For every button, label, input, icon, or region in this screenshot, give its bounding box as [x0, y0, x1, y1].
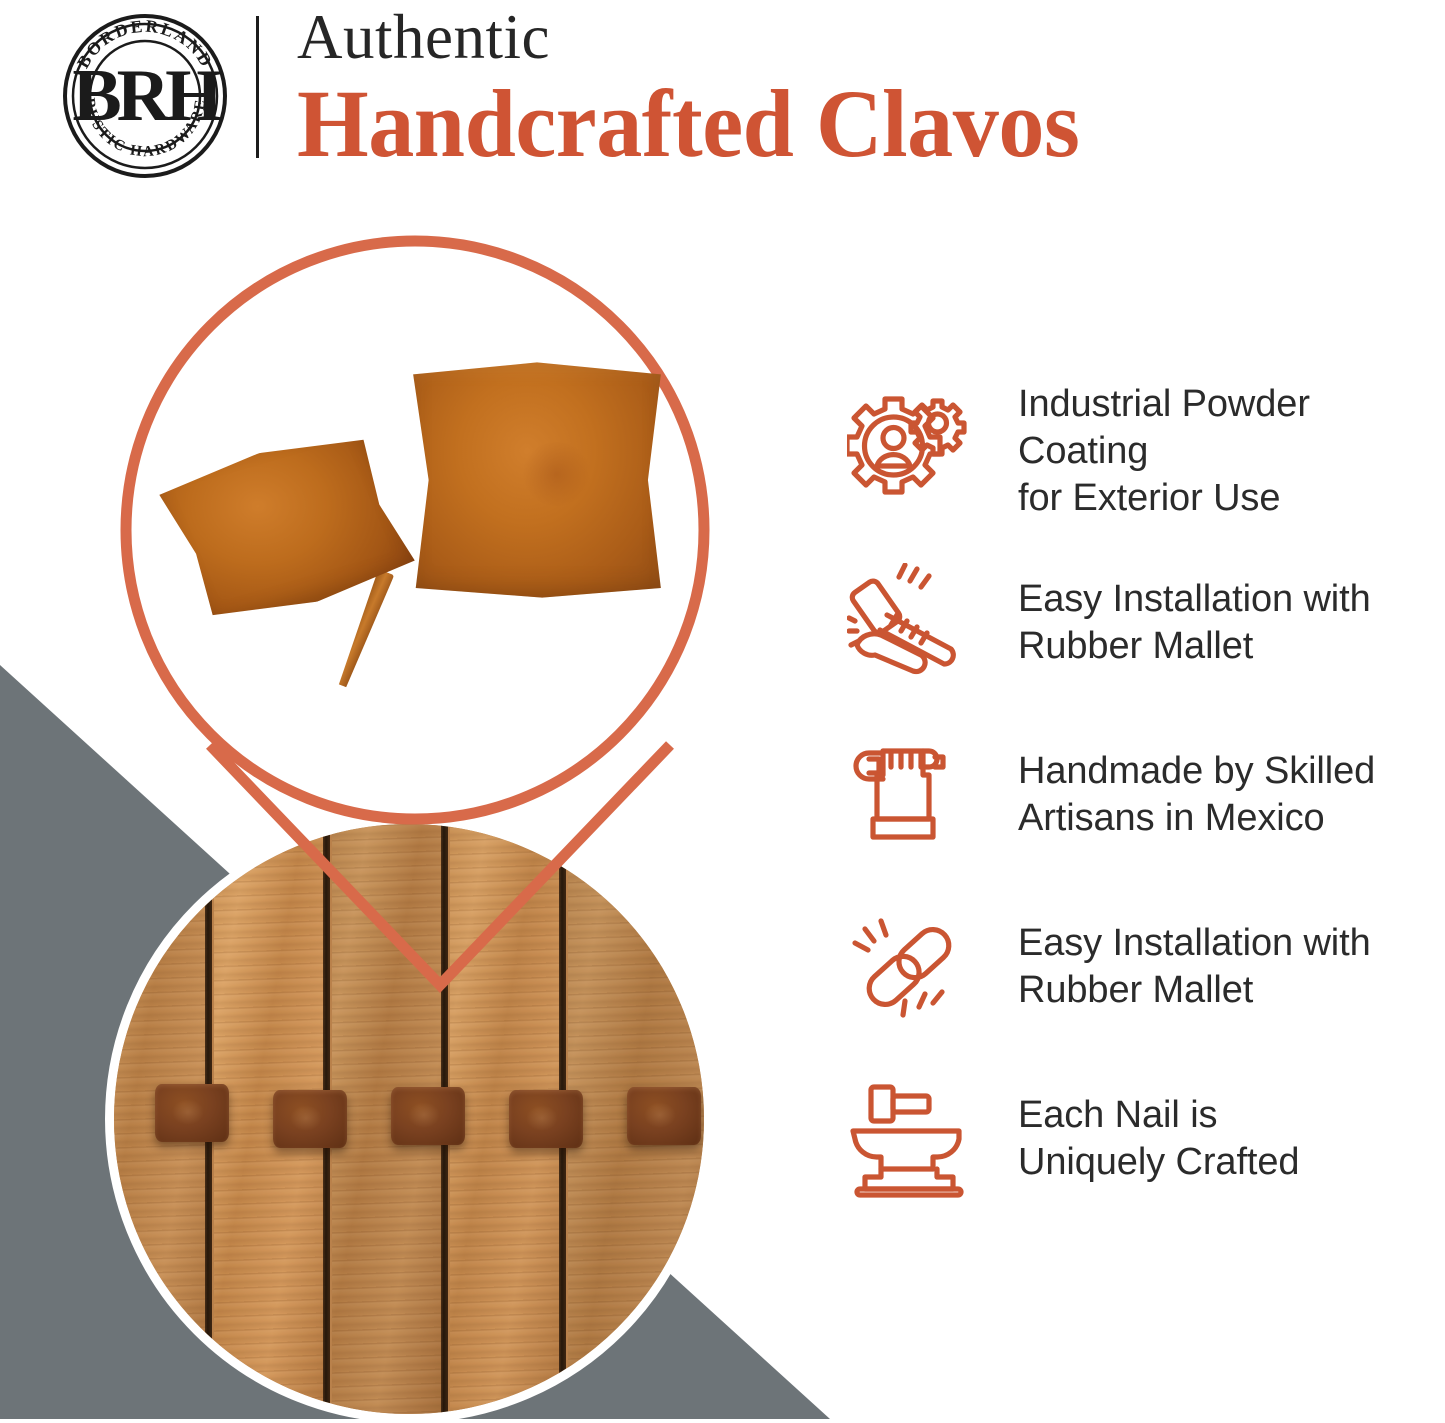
feature-line-1: Industrial Powder Coating [1018, 381, 1445, 475]
feature-line-1: Easy Installation with [1018, 576, 1371, 623]
page-header: BORDERLAND RUSTIC HARDWARE BRH Authentic… [0, 0, 1445, 195]
feature-label: Industrial Powder Coating for Exterior U… [1018, 381, 1445, 522]
feature-line-2: Uniquely Crafted [1018, 1139, 1299, 1186]
installed-clavo [509, 1090, 583, 1148]
feature-item: Easy Installation with Rubber Mallet [838, 537, 1445, 709]
page-title: Handcrafted Clavos [297, 72, 1079, 176]
clavos-product-photo [150, 330, 710, 790]
feature-list: Industrial Powder Coating for Exterior U… [838, 365, 1445, 1225]
hand-mallet-icon [838, 557, 980, 689]
anvil-hammer-icon [838, 1073, 980, 1205]
header-divider [256, 16, 259, 158]
installed-clavo [391, 1087, 465, 1145]
chain-link-icon [838, 901, 980, 1033]
feature-line-2: Rubber Mallet [1018, 623, 1371, 670]
feature-item: Each Nail is Uniquely Crafted [838, 1053, 1445, 1225]
product-imagery-panel [0, 195, 830, 1419]
installed-clavo [155, 1084, 229, 1142]
feature-label: Easy Installation with Rubber Mallet [1018, 576, 1371, 670]
installed-clavo [273, 1090, 347, 1148]
feature-item: Easy Installation with Rubber Mallet [838, 881, 1445, 1053]
feature-item: Industrial Powder Coating for Exterior U… [838, 365, 1445, 537]
gear-person-icon [838, 385, 980, 517]
feature-line-2: Rubber Mallet [1018, 967, 1371, 1014]
feature-line-1: Handmade by Skilled [1018, 748, 1375, 795]
feature-label: Easy Installation with Rubber Mallet [1018, 920, 1371, 1014]
feature-label: Handmade by Skilled Artisans in Mexico [1018, 748, 1375, 842]
feature-line-1: Easy Installation with [1018, 920, 1371, 967]
feature-line-1: Each Nail is [1018, 1092, 1299, 1139]
feature-line-2: for Exterior Use [1018, 475, 1445, 522]
wooden-door-photo [114, 824, 704, 1414]
header-eyebrow: Authentic [297, 2, 1112, 72]
feature-line-2: Artisans in Mexico [1018, 795, 1375, 842]
clavo-flat-view [408, 360, 666, 600]
feature-label: Each Nail is Uniquely Crafted [1018, 1092, 1299, 1186]
brand-logo: BORDERLAND RUSTIC HARDWARE BRH [57, 8, 233, 184]
installed-clavo [627, 1087, 701, 1145]
door-photo-circle [105, 815, 713, 1423]
feature-item: Handmade by Skilled Artisans in Mexico [838, 709, 1445, 881]
header-title-block: Authentic Handcrafted Clavos [297, 2, 1112, 176]
brand-logo-mark: BORDERLAND RUSTIC HARDWARE BRH [57, 8, 233, 184]
logo-monogram: BRH [72, 55, 222, 137]
fist-wrench-icon [838, 729, 980, 861]
